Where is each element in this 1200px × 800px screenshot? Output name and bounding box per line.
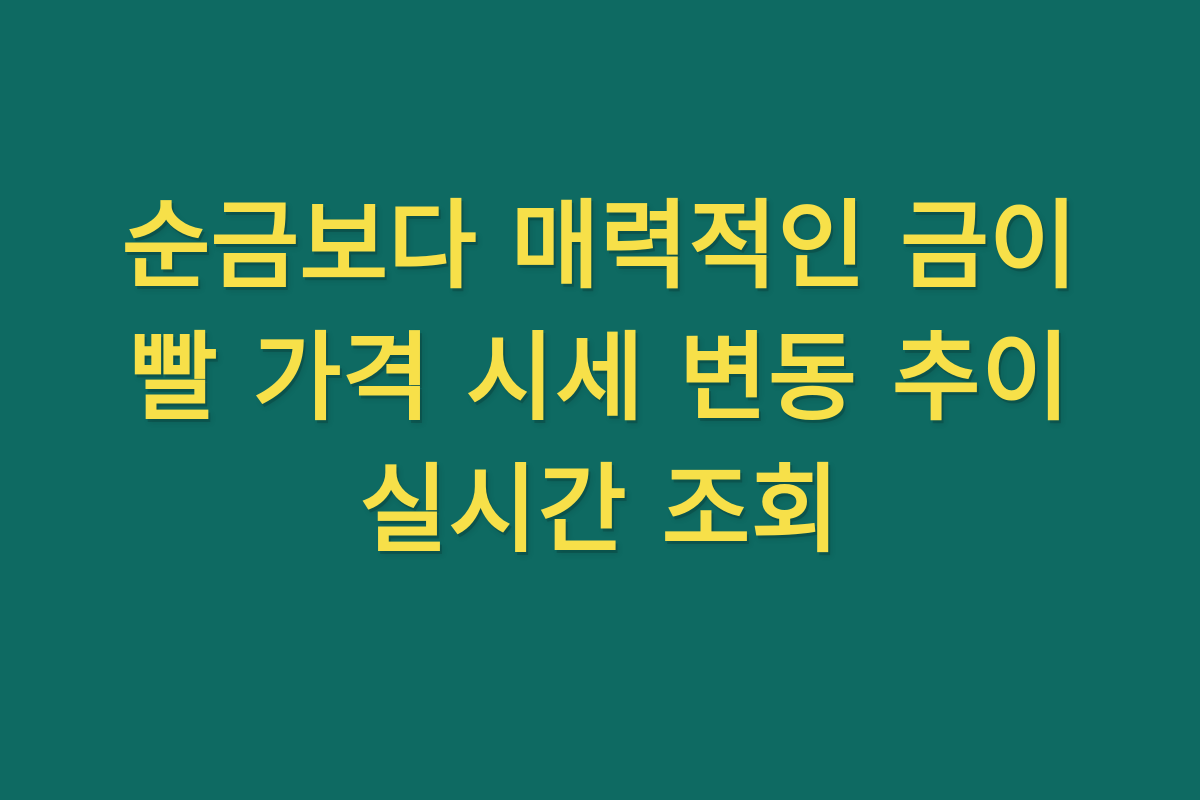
title-line-1: 순금보다 매력적인 금이 <box>50 180 1150 312</box>
title-line-3: 실시간 조회 <box>50 444 1150 576</box>
title-card: 순금보다 매력적인 금이 빨 가격 시세 변동 추이 실시간 조회 <box>0 0 1200 800</box>
title-line-2: 빨 가격 시세 변동 추이 <box>50 312 1150 444</box>
page-title: 순금보다 매력적인 금이 빨 가격 시세 변동 추이 실시간 조회 <box>50 180 1150 576</box>
